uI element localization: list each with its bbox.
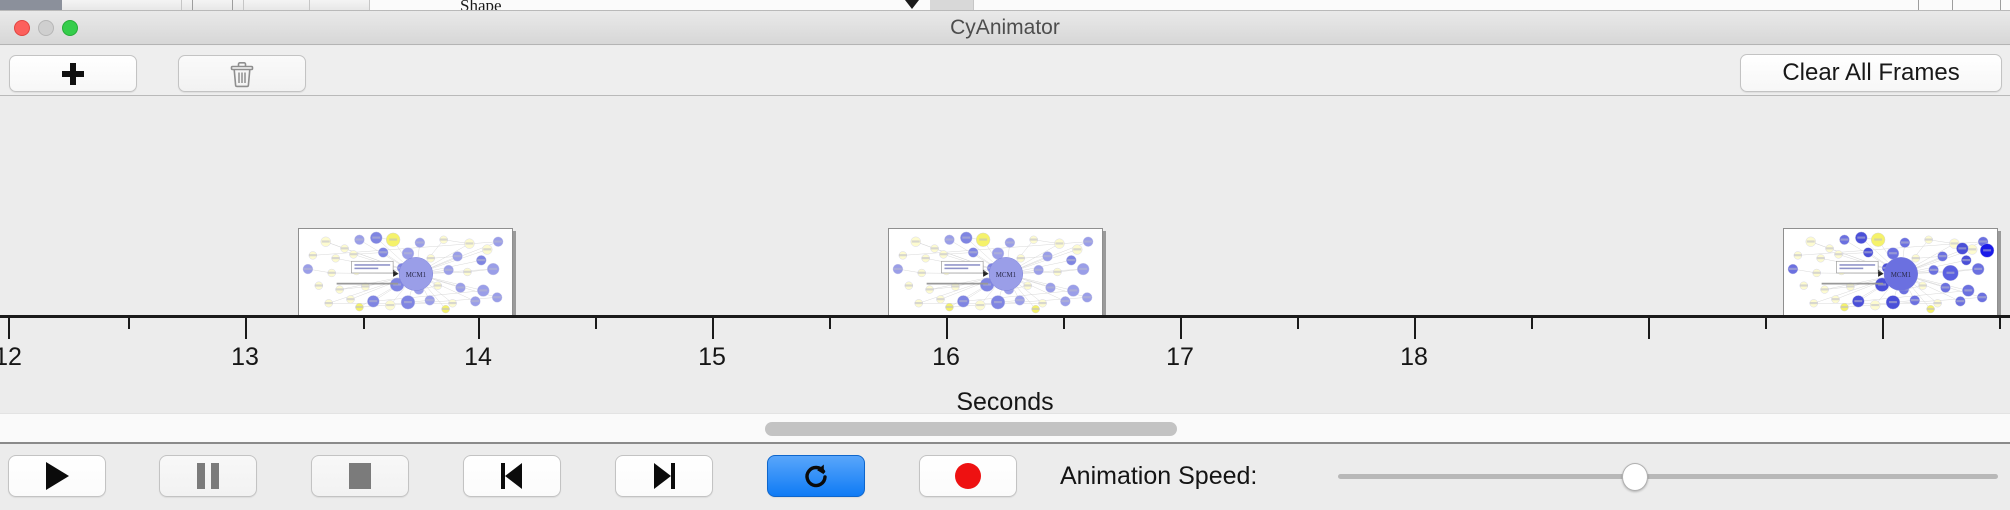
animation-speed-slider[interactable] bbox=[1338, 455, 1998, 497]
axis-line bbox=[0, 315, 2010, 318]
background-window-tick bbox=[1918, 0, 1919, 11]
record-button[interactable] bbox=[919, 455, 1017, 497]
axis-tick-major bbox=[946, 318, 948, 339]
skip-forward-button[interactable] bbox=[615, 455, 713, 497]
timeline-frame-thumbnail[interactable]: MCM1 bbox=[888, 228, 1103, 316]
frame-toolbar: Clear All Frames bbox=[0, 46, 2010, 96]
axis-tick-minor bbox=[363, 318, 365, 329]
playback-control-bar: Animation Speed: bbox=[0, 446, 2010, 510]
stop-icon bbox=[349, 463, 371, 489]
axis-tick-minor bbox=[128, 318, 130, 329]
background-window-tick bbox=[232, 0, 233, 11]
axis-tick-label: 14 bbox=[464, 343, 492, 372]
svg-text:MCM1: MCM1 bbox=[406, 272, 427, 279]
slider-track bbox=[1338, 474, 1998, 479]
slider-thumb[interactable] bbox=[1622, 463, 1648, 491]
traffic-light-group bbox=[14, 20, 78, 36]
plus-icon bbox=[61, 62, 85, 86]
background-window-segment bbox=[62, 0, 182, 11]
background-window-tick bbox=[2000, 0, 2001, 11]
pause-icon bbox=[197, 463, 219, 489]
clear-all-frames-button[interactable]: Clear All Frames bbox=[1740, 54, 2002, 92]
timeline-frame-thumbnail[interactable]: MCM1 bbox=[298, 228, 513, 316]
axis-tick-label: 16 bbox=[932, 343, 960, 372]
axis-tick-label: 17 bbox=[1166, 343, 1194, 372]
add-frame-button[interactable] bbox=[9, 55, 137, 92]
axis-tick-label: 12 bbox=[0, 343, 22, 372]
delete-frame-button[interactable] bbox=[178, 55, 306, 92]
axis-tick-major bbox=[245, 318, 247, 339]
axis-tick-major bbox=[1648, 318, 1650, 339]
loop-icon bbox=[801, 461, 831, 491]
skip-back-button[interactable] bbox=[463, 455, 561, 497]
svg-text:MCM1: MCM1 bbox=[1891, 272, 1912, 279]
record-icon bbox=[955, 463, 981, 489]
background-window-tick bbox=[192, 0, 193, 11]
loop-button[interactable] bbox=[767, 455, 865, 497]
axis-tick-minor bbox=[1297, 318, 1299, 329]
axis-tick-minor bbox=[1999, 318, 2001, 329]
background-window-segment bbox=[244, 0, 310, 11]
axis-tick-label: 15 bbox=[698, 343, 726, 372]
axis-tick-major bbox=[712, 318, 714, 339]
animation-speed-label: Animation Speed: bbox=[1060, 462, 1257, 491]
background-window-dark-panel bbox=[0, 0, 62, 11]
trash-icon bbox=[229, 60, 255, 88]
background-window-segment bbox=[930, 0, 974, 11]
axis-tick-major bbox=[478, 318, 480, 339]
svg-text:MCM1: MCM1 bbox=[996, 272, 1017, 279]
timeline-frame-thumbnail[interactable]: MCM1 bbox=[1783, 228, 1998, 316]
stop-button[interactable] bbox=[311, 455, 409, 497]
axis-tick-minor bbox=[829, 318, 831, 329]
background-window-caret-icon bbox=[905, 0, 919, 9]
title-bar: CyAnimator bbox=[0, 11, 2010, 45]
axis-tick-major bbox=[1414, 318, 1416, 339]
timeline-axis: 12131415161718 Seconds bbox=[0, 315, 2010, 413]
background-window-tick bbox=[1952, 0, 1953, 11]
maximize-window-button[interactable] bbox=[62, 20, 78, 36]
background-window-segment bbox=[310, 0, 370, 11]
axis-tick-major bbox=[1882, 318, 1884, 339]
background-window-label: Shape bbox=[460, 0, 502, 11]
play-icon bbox=[46, 462, 69, 490]
scrollbar-thumb[interactable] bbox=[765, 422, 1177, 436]
axis-tick-minor bbox=[595, 318, 597, 329]
axis-tick-label: 18 bbox=[1400, 343, 1428, 372]
close-window-button[interactable] bbox=[14, 20, 30, 36]
skip-forward-icon bbox=[651, 463, 677, 489]
background-window-strip: Shape bbox=[0, 0, 2010, 11]
play-button[interactable] bbox=[8, 455, 106, 497]
axis-tick-minor bbox=[1765, 318, 1767, 329]
cyanimator-window: Shape CyAnimator Clear All Frames MCM bbox=[0, 0, 2010, 510]
window-title: CyAnimator bbox=[0, 11, 2010, 45]
timeline-horizontal-scrollbar[interactable] bbox=[0, 413, 2010, 444]
axis-tick-label: 13 bbox=[231, 343, 259, 372]
timeline-frame-strip[interactable]: MCM1MCM1MCM1 bbox=[0, 97, 2010, 316]
minimize-window-button[interactable] bbox=[38, 20, 54, 36]
axis-tick-minor bbox=[1531, 318, 1533, 329]
axis-tick-major bbox=[1180, 318, 1182, 339]
skip-back-icon bbox=[499, 463, 525, 489]
axis-tick-major bbox=[8, 318, 10, 339]
pause-button[interactable] bbox=[159, 455, 257, 497]
axis-tick-minor bbox=[1063, 318, 1065, 329]
